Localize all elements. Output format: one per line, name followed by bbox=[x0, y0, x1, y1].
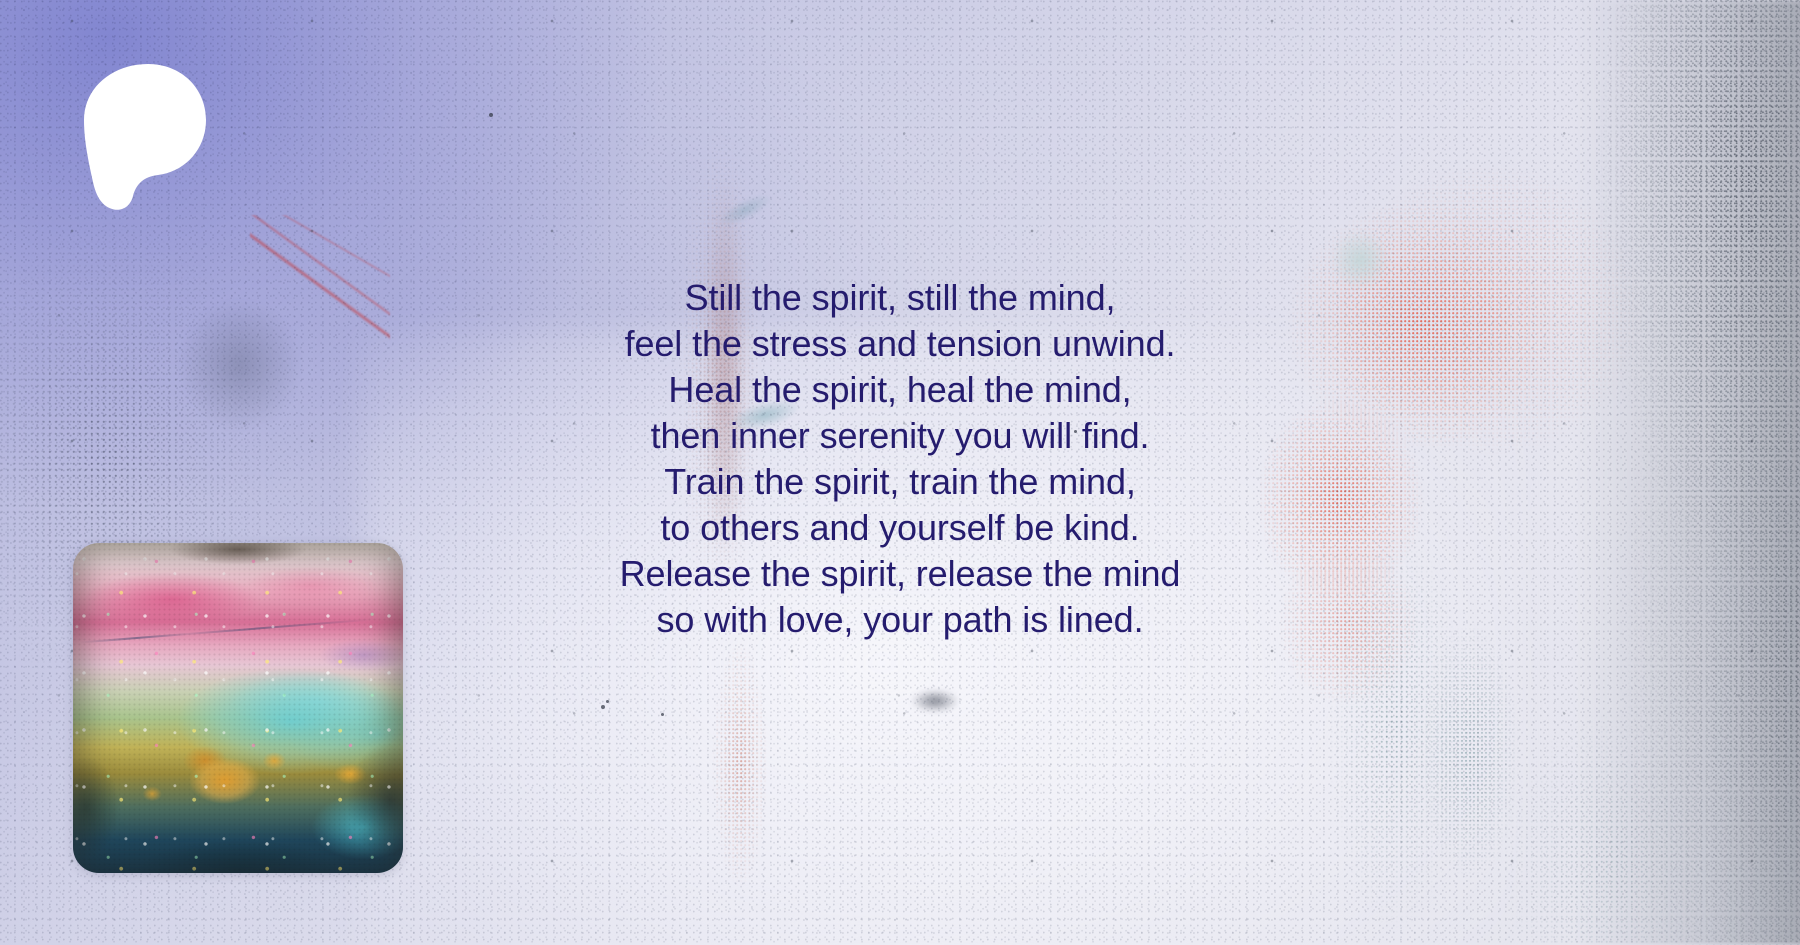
speck-dot bbox=[489, 113, 493, 117]
artwork-vignette bbox=[73, 543, 403, 873]
patreon-logo[interactable] bbox=[78, 62, 208, 212]
poem-line: Train the spirit, train the mind, bbox=[520, 459, 1280, 505]
artwork-thumbnail-image bbox=[73, 543, 403, 873]
poem-line: Release the spirit, release the mind bbox=[520, 551, 1280, 597]
poem-text: Still the spirit, still the mind, feel t… bbox=[520, 275, 1280, 643]
patreon-p-glyph bbox=[84, 64, 206, 210]
smudge bbox=[912, 690, 958, 712]
poem-line: so with love, your path is lined. bbox=[520, 597, 1280, 643]
speck-dot bbox=[661, 713, 664, 716]
artwork-thumbnail[interactable] bbox=[73, 543, 403, 873]
speck-dot bbox=[601, 705, 605, 709]
poem-line: feel the stress and tension unwind. bbox=[520, 321, 1280, 367]
smudge bbox=[180, 300, 300, 430]
poem-line: Heal the spirit, heal the mind, bbox=[520, 367, 1280, 413]
speck-dot bbox=[606, 700, 609, 703]
poem-line: then inner serenity you will find. bbox=[520, 413, 1280, 459]
artwork-canvas: Still the spirit, still the mind, feel t… bbox=[0, 0, 1800, 945]
highlight-dot bbox=[1330, 230, 1390, 290]
poem-line: to others and yourself be kind. bbox=[520, 505, 1280, 551]
poem-line: Still the spirit, still the mind, bbox=[520, 275, 1280, 321]
